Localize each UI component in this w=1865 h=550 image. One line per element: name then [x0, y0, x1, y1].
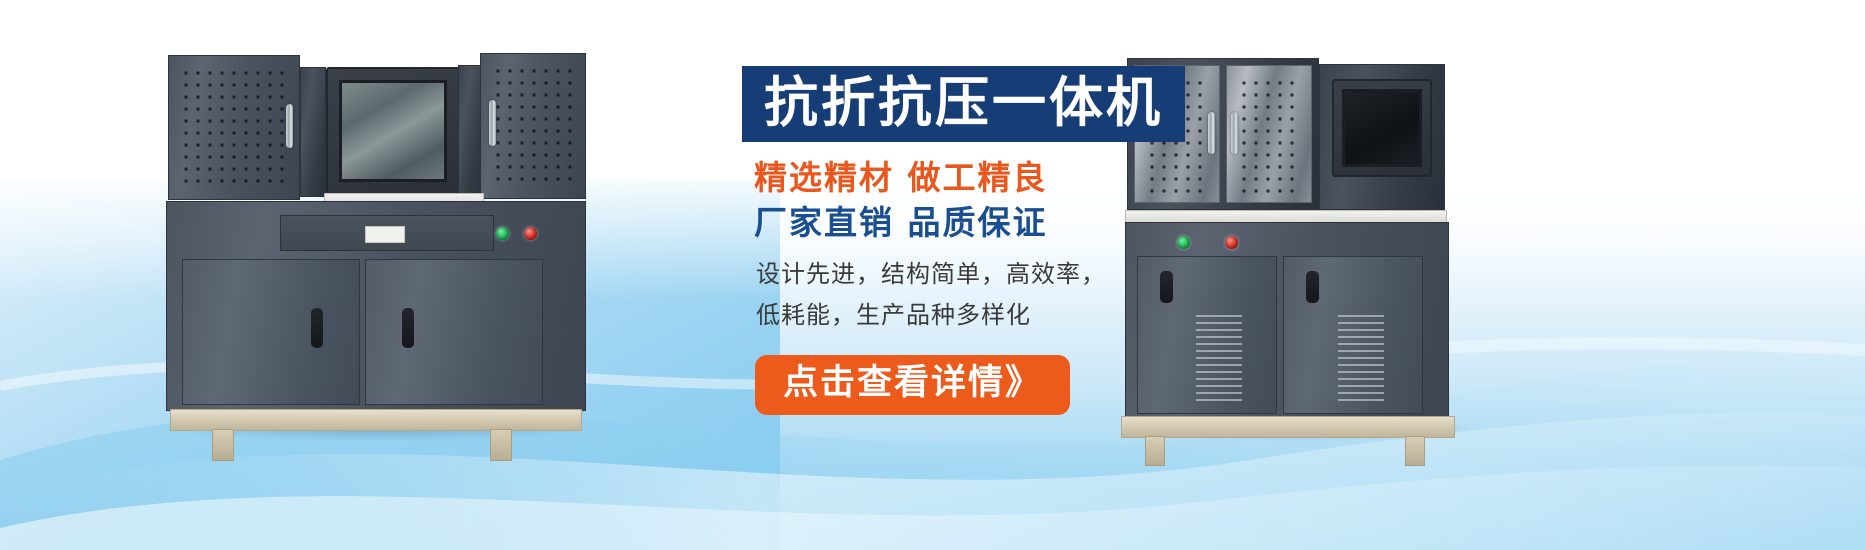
wooden-pallet — [170, 409, 582, 431]
ventilation-louver — [1338, 315, 1384, 403]
monitor-screen — [1342, 89, 1422, 167]
cabinet-handle — [286, 104, 293, 148]
product-image-left — [160, 45, 590, 435]
door-latch — [311, 308, 323, 348]
perforated-panel-icon — [178, 65, 290, 190]
pallet-leg — [1145, 436, 1165, 466]
control-drawer — [280, 215, 494, 251]
subtitle-secondary: 厂家直销 品质保证 — [754, 204, 1342, 243]
headline-banner: 抗折抗压一体机 — [742, 66, 1185, 142]
view-details-button-label: 点击查看详情》 — [783, 366, 1042, 401]
lower-cabinet-door-left — [182, 259, 360, 405]
drawer-label — [365, 226, 405, 243]
description-line-1: 设计先进，结构简单，高效率， — [756, 255, 1342, 294]
promo-copy-block: 抗折抗压一体机 精选精材 做工精良 厂家直销 品质保证 设计先进，结构简单，高效… — [742, 66, 1342, 415]
description-line-2: 低耗能，生产品种多样化 — [756, 296, 1342, 335]
upper-left-cabinet — [168, 55, 300, 200]
door-latch — [402, 308, 414, 348]
upper-left-cabinet-side — [300, 67, 326, 197]
perforated-panel-icon — [490, 63, 576, 189]
subtitle-primary: 精选精材 做工精良 — [754, 159, 1342, 198]
wooden-pallet — [1121, 416, 1455, 438]
lower-cabinet-door-right — [365, 259, 543, 405]
pallet-leg — [212, 429, 234, 461]
view-details-button[interactable]: 点击查看详情》 — [755, 355, 1070, 415]
cabinet-handle — [489, 100, 496, 146]
status-led-green — [496, 227, 509, 240]
control-monitor — [326, 67, 460, 195]
pallet-leg — [490, 429, 512, 461]
pallet-leg — [1405, 436, 1425, 466]
product-promo-banner: 抗折抗压一体机 精选精材 做工精良 厂家直销 品质保证 设计先进，结构简单，高效… — [0, 0, 1865, 550]
upper-right-cabinet-side — [458, 65, 482, 197]
status-led-red — [524, 227, 537, 240]
page-title: 抗折抗压一体机 — [764, 75, 1163, 131]
monitor-screen — [339, 80, 447, 182]
upper-right-cabinet — [480, 53, 586, 199]
control-monitor — [1332, 79, 1432, 177]
